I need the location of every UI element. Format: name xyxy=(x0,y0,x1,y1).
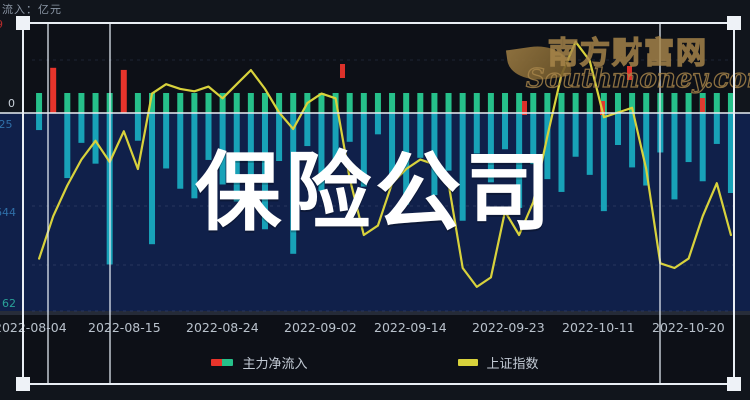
legend-swatch-line-icon xyxy=(458,359,478,366)
x-axis-tick-7: 2022-10-20 xyxy=(652,320,725,335)
x-axis-tick-3: 2022-09-02 xyxy=(284,320,357,335)
page-title: 保险公司 xyxy=(0,150,750,236)
x-axis-tick-1: 2022-08-15 xyxy=(88,320,161,335)
x-axis-tick-5: 2022-09-23 xyxy=(472,320,545,335)
x-axis-tick-6: 2022-10-11 xyxy=(562,320,635,335)
legend-item-main-net-inflow[interactable]: 主力净流入 xyxy=(211,353,307,372)
screenshot-root: 流入：亿元 9 0 .25 644 62 2022-08-04 2022-08-… xyxy=(0,0,750,400)
chart-canvas: 流入：亿元 9 0 .25 644 62 2022-08-04 2022-08-… xyxy=(0,0,750,400)
x-axis-tick-4: 2022-09-14 xyxy=(374,320,447,335)
x-axis-tick-0: 2022-08-04 xyxy=(0,320,67,335)
legend-label-main-net-inflow: 主力净流入 xyxy=(242,353,307,372)
legend-label-shanghai-index: 上证指数 xyxy=(487,353,539,372)
legend-item-shanghai-index[interactable]: 上证指数 xyxy=(458,353,539,372)
chart-legend: 主力净流入 上证指数 xyxy=(0,348,750,376)
x-axis-tick-2: 2022-08-24 xyxy=(186,320,259,335)
legend-swatch-bar-icon xyxy=(211,359,233,366)
